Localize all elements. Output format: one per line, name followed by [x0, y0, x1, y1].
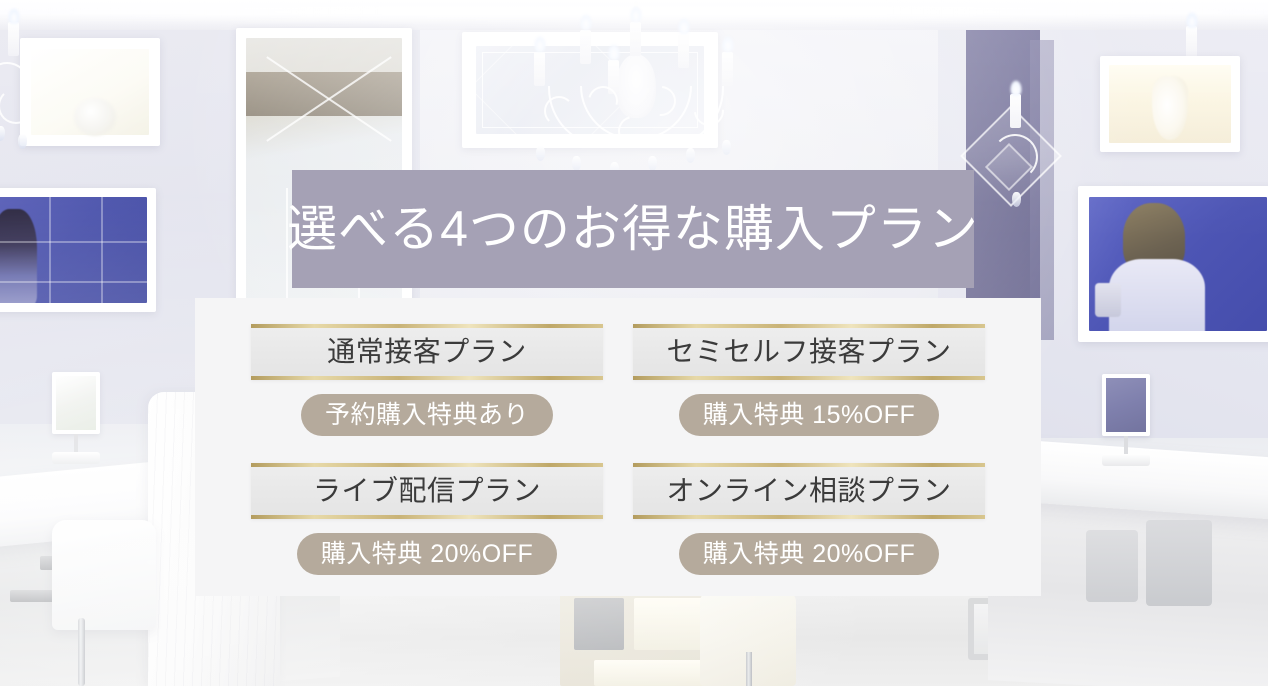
storage-bin — [1146, 520, 1212, 606]
chandelier-candle — [534, 52, 545, 86]
wall-sconce-right-secondary — [982, 94, 1068, 224]
chandelier-candle — [678, 34, 689, 68]
screen-left-display — [0, 197, 147, 303]
chandelier-candle — [722, 52, 733, 86]
framed-screen-right — [1078, 186, 1268, 342]
plans-panel: 通常接客プラン 予約購入特典あり セミセルフ接客プラン 購入特典 15%OFF … — [195, 298, 1041, 596]
plan-badge-row: 購入特典 20%OFF — [633, 533, 985, 575]
screen-left-grid-line — [101, 197, 103, 303]
plan-card-online-consult[interactable]: オンライン相談プラン 購入特典 20%OFF — [633, 463, 985, 575]
sconce-scroll — [0, 88, 34, 124]
salon-stool — [52, 520, 156, 630]
framed-screen-left — [0, 188, 156, 312]
plan-header: ライブ配信プラン — [251, 463, 603, 519]
plan-title: オンライン相談プラン — [666, 477, 951, 505]
table-mirror-left — [48, 372, 104, 468]
chandelier-flame — [630, 6, 642, 22]
sconce-candle — [8, 22, 19, 56]
plan-card-livestream[interactable]: ライブ配信プラン 購入特典 20%OFF — [251, 463, 603, 575]
table-mirror-pole — [1124, 436, 1128, 456]
sconce-crystal — [18, 134, 27, 149]
sconce-crystal — [1012, 192, 1021, 207]
framed-art-soft-shape — [74, 98, 116, 136]
screen-left-grid-line — [0, 241, 147, 243]
salon-chair-center-leg — [746, 652, 752, 686]
chandelier-crystal — [536, 146, 545, 161]
sconce-flame — [8, 8, 20, 24]
page-title: 選べる4つのお得な購入プラン — [287, 204, 979, 254]
shelf-cell — [574, 598, 624, 650]
wall-sconce-left — [0, 22, 60, 152]
chandelier-flame — [580, 14, 592, 30]
plan-header: オンライン相談プラン — [633, 463, 985, 519]
chandelier-flame — [608, 44, 620, 60]
plans-grid: 通常接客プラン 予約購入特典あり セミセルフ接客プラン 購入特典 15%OFF … — [251, 324, 985, 575]
screen-left-grid-line — [0, 281, 147, 283]
chandelier-crystal — [722, 140, 731, 155]
chandelier-candle — [580, 30, 591, 64]
chandelier-candle — [630, 22, 641, 56]
plan-title: セミセルフ接客プラン — [666, 338, 951, 366]
table-mirror-glass — [1102, 374, 1150, 436]
table-mirror-right — [1098, 374, 1154, 470]
plan-header: セミセルフ接客プラン — [633, 324, 985, 380]
chandelier-flame — [678, 18, 690, 34]
plan-title: 通常接客プラン — [327, 338, 527, 366]
screen-right-display — [1089, 197, 1267, 331]
plan-card-semiself[interactable]: セミセルフ接客プラン 購入特典 15%OFF — [633, 324, 985, 436]
screen-right-person-body — [1109, 259, 1205, 331]
plan-benefit-badge: 購入特典 20%OFF — [679, 533, 939, 575]
table-mirror-base — [52, 452, 100, 464]
chandelier-scroll — [544, 96, 574, 126]
screen-right-held-object — [1095, 283, 1121, 317]
screen-left-grid-line — [49, 197, 51, 303]
chandelier-flame — [534, 36, 546, 52]
sconce-flame — [1186, 12, 1198, 28]
plan-title: ライブ配信プラン — [313, 477, 541, 505]
chandelier-crystal — [648, 156, 657, 171]
table-mirror-glass — [52, 372, 100, 434]
title-banner: 選べる4つのお得な購入プラン — [292, 170, 974, 288]
vase-shape — [1152, 76, 1188, 140]
sconce-scroll — [992, 134, 1038, 180]
plan-badge-row: 予約購入特典あり — [251, 394, 603, 436]
sconce-candle — [1010, 94, 1021, 128]
framed-vase-art — [1100, 56, 1240, 152]
framed-vase-canvas — [1109, 65, 1231, 143]
chandelier-crystal — [686, 148, 695, 163]
sconce-crystal — [0, 126, 5, 141]
plan-badge-row: 購入特典 20%OFF — [251, 533, 603, 575]
chandelier-crystal — [572, 156, 581, 171]
screen-left-person-silhouette — [0, 209, 37, 303]
table-mirror-base — [1102, 454, 1150, 466]
sconce-candle — [1186, 26, 1197, 60]
plan-benefit-badge: 購入特典 15%OFF — [679, 394, 939, 436]
salon-stool-leg — [78, 618, 85, 686]
table-mirror-pole — [74, 434, 78, 454]
promo-banner-stage: 選べる4つのお得な購入プラン 通常接客プラン 予約購入特典あり セミセルフ接客プ… — [0, 0, 1268, 686]
chandelier-flame — [722, 36, 734, 52]
plan-card-standard[interactable]: 通常接客プラン 予約購入特典あり — [251, 324, 603, 436]
storage-bin-secondary — [1086, 530, 1138, 602]
plan-benefit-badge: 予約購入特典あり — [301, 394, 553, 436]
sconce-flame — [1010, 80, 1022, 96]
shelf-cell — [634, 598, 710, 650]
plan-header: 通常接客プラン — [251, 324, 603, 380]
plan-benefit-badge: 購入特典 20%OFF — [297, 533, 557, 575]
plan-badge-row: 購入特典 15%OFF — [633, 394, 985, 436]
